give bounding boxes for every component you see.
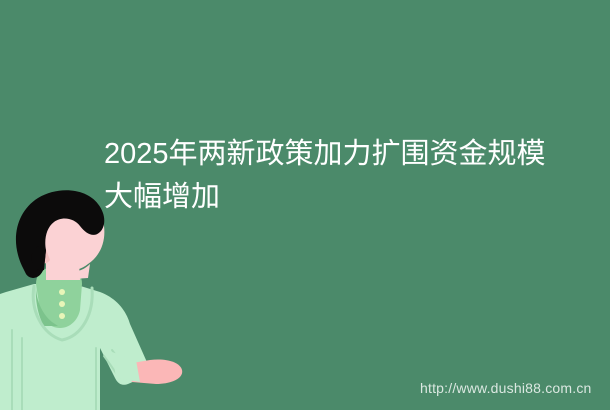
collar-buttons xyxy=(59,289,65,319)
source-url-watermark: http://www.dushi88.com.cn xyxy=(420,380,592,396)
page-title: 2025年两新政策加力扩围资金规模大幅增加 xyxy=(104,133,556,219)
person-looking-up-illustration xyxy=(0,188,200,410)
image-canvas: 2025年两新政策加力扩围资金规模大幅增加 http://www.dushi88… xyxy=(0,0,610,410)
